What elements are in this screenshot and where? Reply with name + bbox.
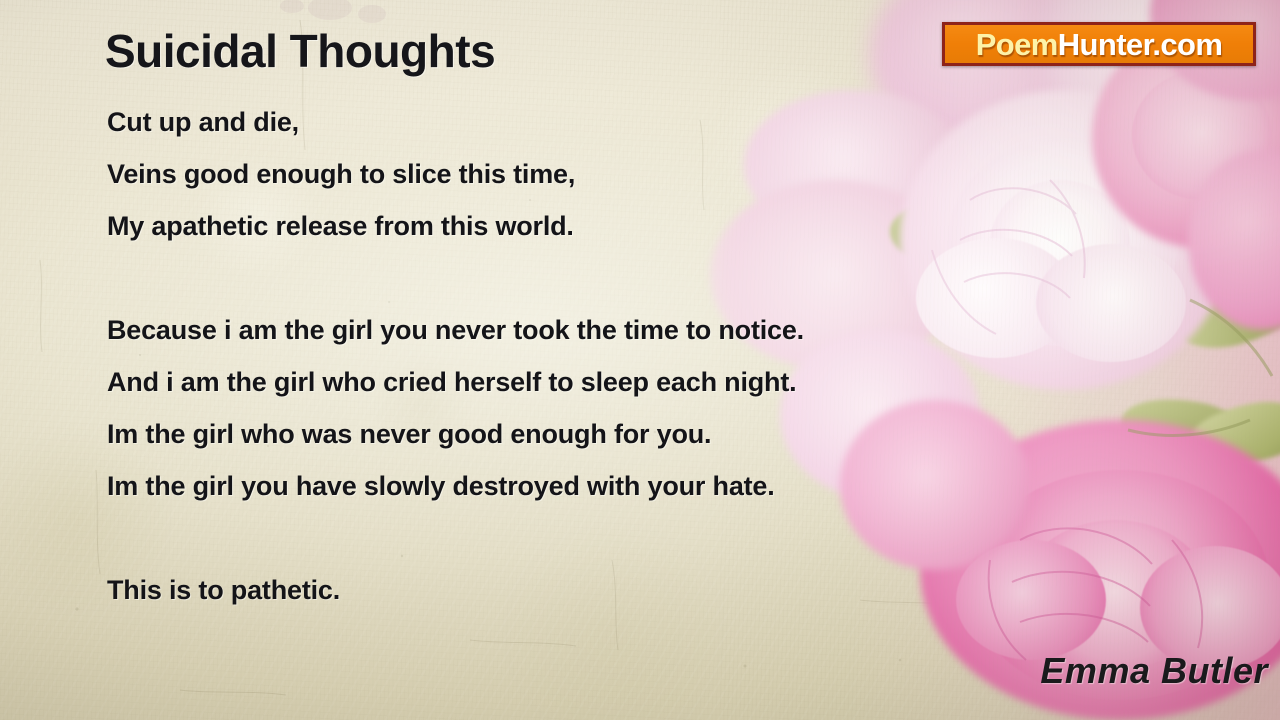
page-title: Suicidal Thoughts [105, 24, 495, 78]
poemhunter-logo[interactable]: PoemHunter.com [942, 22, 1256, 66]
poem-line: This is to pathetic. [107, 564, 987, 616]
poem-image-card: Suicidal Thoughts Cut up and die, Veins … [0, 0, 1280, 720]
logo-poem-text: Poem [976, 27, 1058, 62]
poem-line: Because i am the girl you never took the… [107, 304, 987, 356]
poem-line: Cut up and die, [107, 96, 987, 148]
poem-line: Im the girl who was never good enough fo… [107, 408, 987, 460]
poem-line: Veins good enough to slice this time, [107, 148, 987, 200]
poem-stanza-break [107, 252, 987, 304]
poem-line: Im the girl you have slowly destroyed wi… [107, 460, 987, 512]
poem-text-block: Cut up and die, Veins good enough to sli… [107, 96, 987, 616]
poem-stanza-break [107, 512, 987, 564]
poem-line: And i am the girl who cried herself to s… [107, 356, 987, 408]
poem-line: My apathetic release from this world. [107, 200, 987, 252]
logo-wordmark: PoemHunter.com [976, 29, 1223, 60]
logo-hunter-text: Hunter.com [1058, 27, 1223, 62]
author-name: Emma Butler [1040, 650, 1268, 692]
